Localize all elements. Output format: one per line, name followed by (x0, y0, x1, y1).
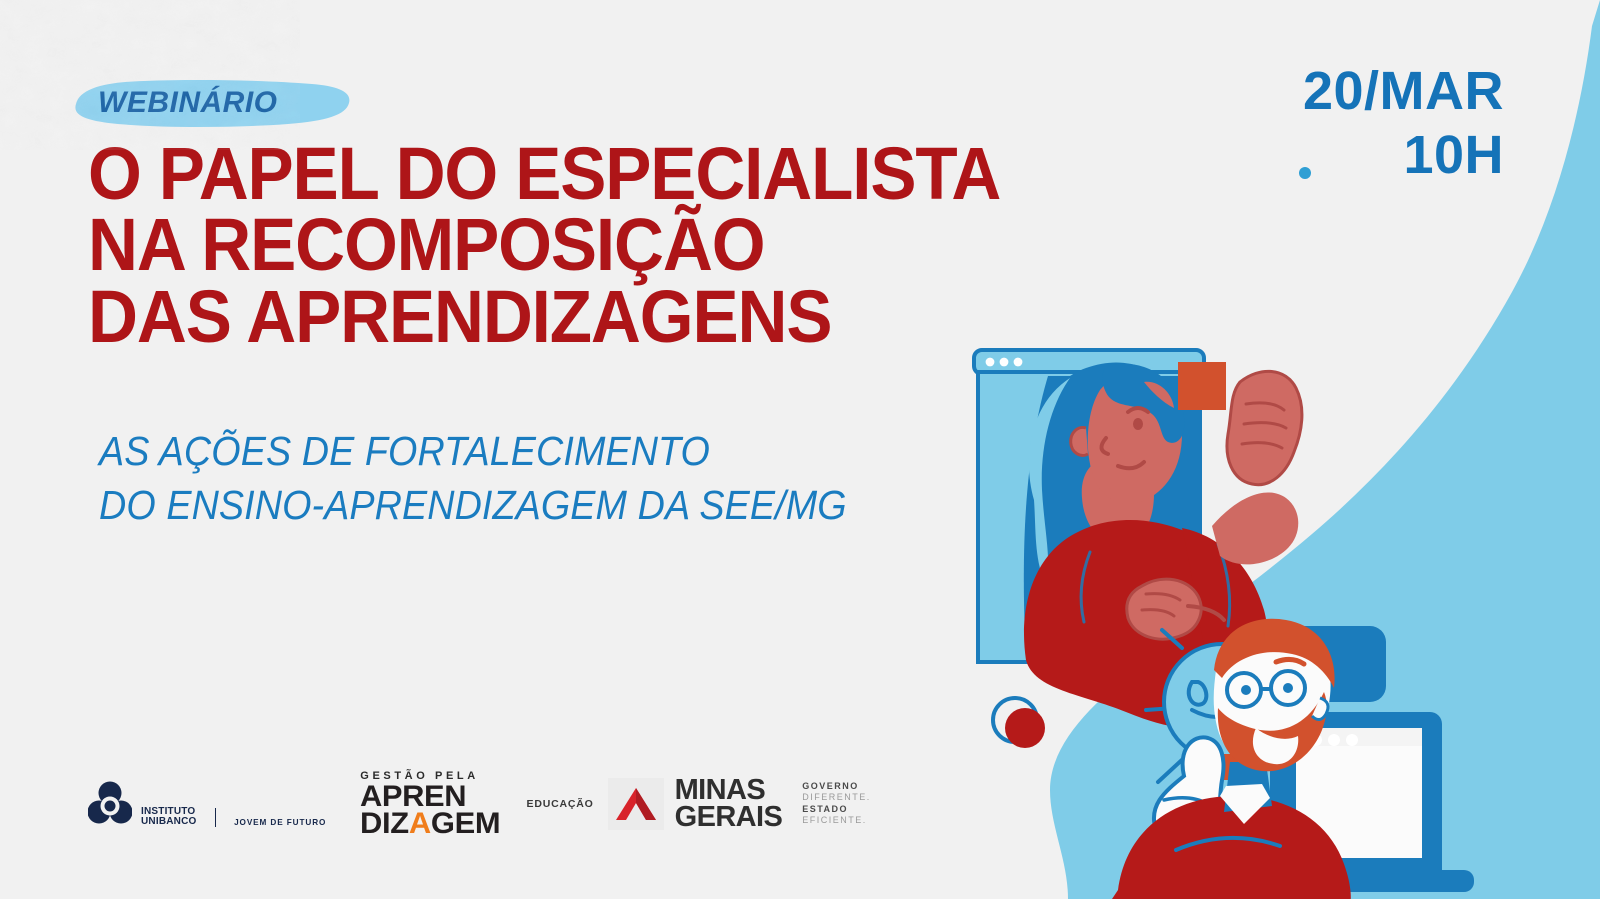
minas-gerais-wordmark: MINAS GERAIS (675, 777, 783, 831)
page-subtitle: AS AÇÕES DE FORTALECIMENTO DO ENSINO-APR… (99, 424, 1001, 532)
gpa-line-2: DIZAGEM (360, 810, 500, 837)
gpa-line-2-b: GEM (431, 807, 500, 840)
logo-bar: INSTITUTO UNIBANCO JOVEM DE FUTURO GESTÃ… (88, 770, 871, 837)
slogan-line-2: DIFERENTE. (802, 792, 871, 804)
gpa-orange-chevron-icon: A (409, 807, 431, 840)
slogan-line-4: EFICIENTE. (802, 815, 871, 827)
headline-block: WEBINÁRIO O PAPEL DO ESPECIALISTA NA REC… (0, 0, 1060, 899)
event-date-time: 10H (1303, 124, 1504, 188)
jovem-de-futuro-label: JOVEM DE FUTURO (234, 818, 326, 829)
mg-line-1: MINAS (675, 777, 783, 804)
instituto-unibanco-wordmark: INSTITUTO UNIBANCO (141, 807, 197, 829)
logo-divider (215, 808, 217, 827)
logo-minas-gerais: MINAS GERAIS GOVERNO DIFERENTE. ESTADO E… (608, 777, 871, 831)
kicker-label: WEBINÁRIO (92, 80, 284, 126)
gpa-line-1: APREN (360, 783, 500, 810)
slogan-line-3: ESTADO (802, 804, 871, 816)
logo-gestao-pela-aprendizagem: GESTÃO PELA APREN DIZAGEM (360, 770, 496, 837)
event-date: 20/MAR 10H (1303, 60, 1504, 187)
event-date-day: 20/MAR (1303, 60, 1504, 124)
minas-gerais-triangle-icon (608, 778, 664, 830)
webinar-banner: WEBINÁRIO O PAPEL DO ESPECIALISTA NA REC… (0, 0, 1600, 899)
mg-line-2: GERAIS (675, 804, 783, 831)
gpa-wordmark: APREN DIZAGEM (360, 783, 496, 837)
gpa-line-2-a: DIZ (360, 807, 409, 840)
minas-gerais-slogan: GOVERNO DIFERENTE. ESTADO EFICIENTE. (802, 781, 871, 827)
educacao-label: EDUCAÇÃO (527, 798, 594, 810)
logo-instituto-unibanco: INSTITUTO UNIBANCO JOVEM DE FUTURO (88, 779, 326, 829)
slogan-line-1: GOVERNO (802, 781, 871, 793)
trefoil-knot-icon (88, 779, 132, 829)
kicker-badge: WEBINÁRIO (92, 80, 284, 126)
iu-line-2: UNIBANCO (141, 817, 197, 828)
page-title: O PAPEL DO ESPECIALISTA NA RECOMPOSIÇÃO … (88, 138, 1004, 352)
